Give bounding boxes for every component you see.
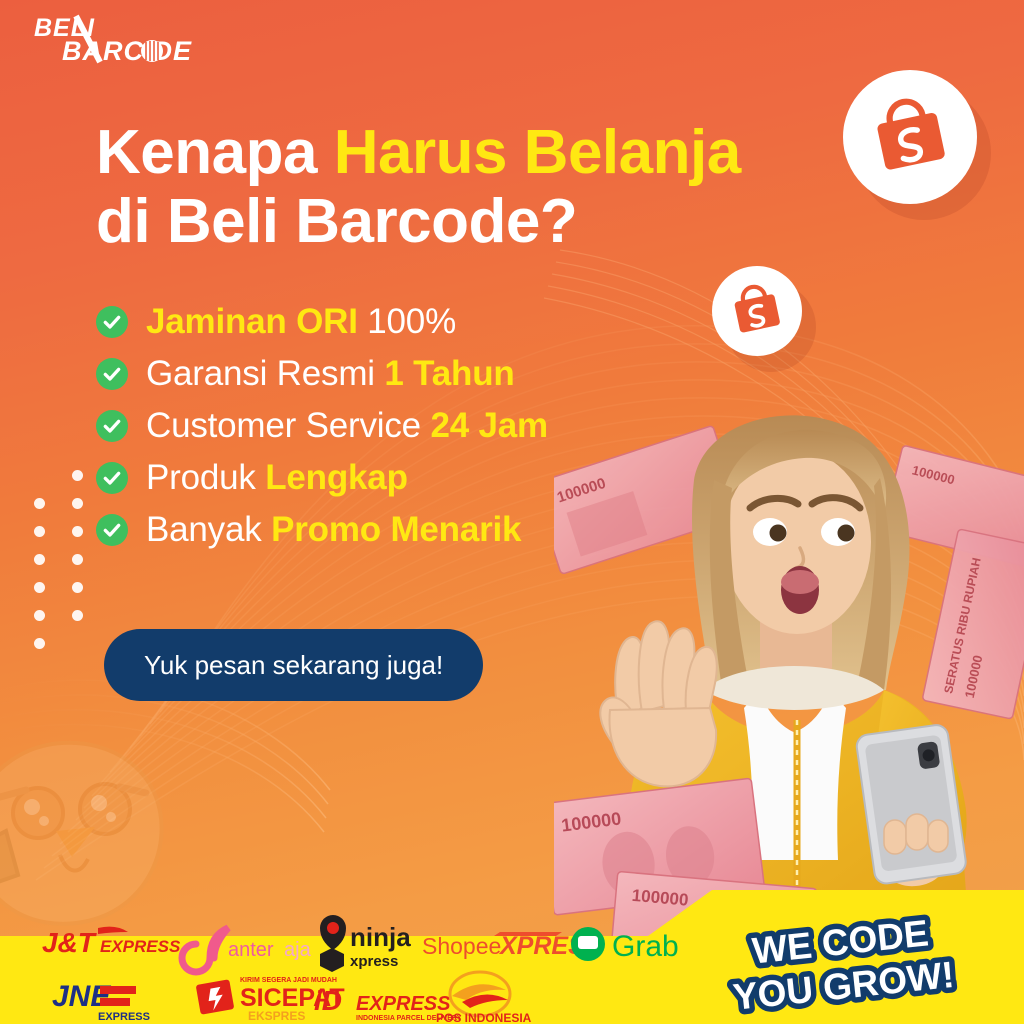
slogan-badge: WE CODE YOU GROW! xyxy=(720,904,1010,1016)
order-now-button[interactable]: Yuk pesan sekarang juga! xyxy=(104,629,483,701)
benefit-text: Produk Lengkap xyxy=(146,458,408,498)
svg-text:xpress: xpress xyxy=(350,953,398,970)
svg-text:aja: aja xyxy=(284,939,312,961)
courier-logos-band: J&T EXPRESS anter aja ninja xyxy=(0,890,1024,1024)
benefit-text: Jaminan ORI 100% xyxy=(146,302,456,342)
benefit-bold: 24 Jam xyxy=(430,406,548,445)
list-item: Jaminan ORI 100% xyxy=(96,296,736,348)
courier-logo-jne: JNE EXPRESS xyxy=(52,980,150,1023)
headline-plain: Kenapa xyxy=(96,118,334,187)
benefit-plain: 100% xyxy=(358,302,456,341)
benefit-plain: Customer Service xyxy=(146,406,430,445)
svg-text:JNE: JNE xyxy=(52,980,111,1013)
svg-text:KIRIM SEGERA JADI MUDAH: KIRIM SEGERA JADI MUDAH xyxy=(240,977,337,984)
headline: Kenapa Harus Belanja di Beli Barcode? xyxy=(96,118,856,257)
promo-banner: BELI BARC DE xyxy=(0,0,1024,1024)
check-circle-icon xyxy=(96,306,128,338)
svg-text:ninja: ninja xyxy=(350,922,411,952)
logo-text-barcode: BARC DE xyxy=(62,36,192,66)
benefit-bold: Promo Menarik xyxy=(271,510,521,549)
shopee-bag-icon xyxy=(843,70,977,204)
benefit-text: Banyak Promo Menarik xyxy=(146,510,521,550)
svg-text:iD: iD xyxy=(314,985,342,1016)
courier-logo-jnt: J&T EXPRESS xyxy=(42,927,181,958)
check-circle-icon xyxy=(96,462,128,494)
courier-logo-ninja: ninja xpress xyxy=(320,915,411,972)
benefit-bold: Jaminan ORI xyxy=(146,302,358,341)
check-circle-icon xyxy=(96,358,128,390)
courier-logo-anteraja: anter aja xyxy=(182,928,312,972)
courier-logo-grab: Grab xyxy=(571,927,679,963)
check-circle-icon xyxy=(96,410,128,442)
benefit-plain: Produk xyxy=(146,458,265,497)
svg-text:POS INDONESIA: POS INDONESIA xyxy=(436,1011,532,1024)
benefit-bold: Lengkap xyxy=(265,458,408,497)
check-circle-icon xyxy=(96,514,128,546)
svg-text:Shopee: Shopee xyxy=(422,933,501,959)
banknote: SERATUS RIBU RUPIAH 100000 xyxy=(922,529,1024,719)
svg-text:EXPRESS: EXPRESS xyxy=(98,1011,150,1023)
benefit-bold: 1 Tahun xyxy=(384,354,514,393)
beli-barcode-logo[interactable]: BELI BARC DE xyxy=(22,10,222,68)
courier-logo-pos-indonesia: POS INDONESIA xyxy=(436,972,532,1024)
svg-text:EXPRESS: EXPRESS xyxy=(100,937,181,956)
benefit-text: Garansi Resmi 1 Tahun xyxy=(146,354,515,394)
dot-grid-decoration xyxy=(34,470,94,649)
headline-line-2: di Beli Barcode? xyxy=(96,187,856,256)
svg-text:J&T: J&T xyxy=(42,927,98,958)
model-photo-with-money: 100000 100000 SERATUS RIBU RUPIAH 100000 xyxy=(554,390,1024,950)
courier-logos: J&T EXPRESS anter aja ninja xyxy=(0,914,716,1024)
svg-text:Grab: Grab xyxy=(612,930,679,963)
benefit-plain: Garansi Resmi xyxy=(146,354,384,393)
logo-barcode-o xyxy=(141,40,163,62)
benefit-plain: Banyak xyxy=(146,510,271,549)
smartphone xyxy=(855,724,967,885)
headline-line-1: Kenapa Harus Belanja xyxy=(96,118,856,187)
headline-highlight: Harus Belanja xyxy=(334,118,741,187)
benefit-text: Customer Service 24 Jam xyxy=(146,406,548,446)
svg-text:anter: anter xyxy=(228,939,274,961)
svg-text:EKSPRES: EKSPRES xyxy=(248,1009,305,1023)
open-hand xyxy=(600,621,716,786)
